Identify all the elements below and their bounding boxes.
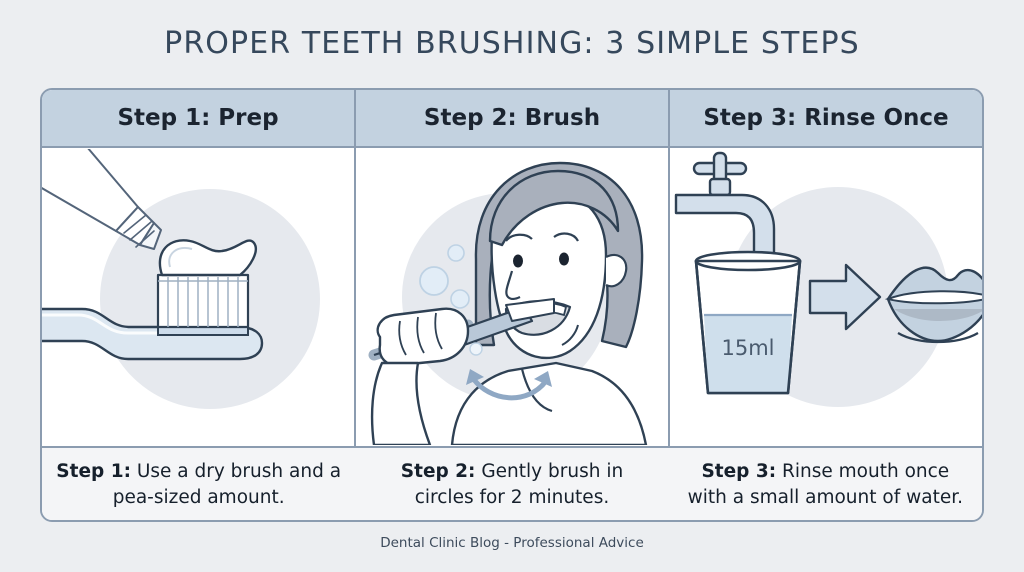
page-title: PROPER TEETH BRUSHING: 3 SIMPLE STEPS [0, 26, 1024, 61]
right-eye [559, 253, 569, 266]
step-1-caption-text: Use a dry brush and a pea-sized amount. [113, 461, 341, 508]
step-1-caption: Step 1: Use a dry brush and a pea-sized … [42, 448, 355, 522]
rinse-with-water-illustration: 15ml [670, 149, 982, 445]
infographic-page: PROPER TEETH BRUSHING: 3 SIMPLE STEPS St… [0, 0, 1024, 572]
step-3-caption-label: Step 3: [701, 461, 776, 482]
footer-credit: Dental Clinic Blog - Professional Advice [0, 535, 1024, 551]
step-3-illustration-cell: 15ml [668, 148, 982, 446]
step-2-caption: Step 2: Gently brush in circles for 2 mi… [355, 448, 668, 522]
step-1-illustration-cell [42, 148, 354, 446]
glass-volume-label: 15ml [721, 336, 774, 360]
step-1-caption-label: Step 1: [56, 461, 131, 482]
steps-card: Step 1: Prep Step 2: Brush Step 3: Rinse… [40, 88, 984, 522]
step-2-header: Step 2: Brush [354, 90, 668, 146]
steps-header-row: Step 1: Prep Step 2: Brush Step 3: Rinse… [42, 90, 982, 148]
step-2-illustration-cell [354, 148, 668, 446]
step-3-caption: Step 3: Rinse mouth once with a small am… [669, 448, 982, 522]
toothpaste-tube-icon [42, 149, 161, 249]
step-3-header: Step 3: Rinse Once [668, 90, 982, 146]
steps-illustration-row: 15ml [42, 148, 982, 448]
steps-caption-row: Step 1: Use a dry brush and a pea-sized … [42, 448, 982, 522]
faucet-icon [676, 153, 774, 261]
step-1-header: Step 1: Prep [42, 90, 354, 146]
toothpaste-on-brush-illustration [42, 149, 354, 445]
hand-shape [378, 309, 468, 366]
person-brushing-illustration [356, 149, 668, 445]
water-glass-icon: 15ml [696, 252, 800, 393]
left-eye [513, 255, 523, 268]
step-2-caption-label: Step 2: [401, 461, 476, 482]
forearm-shape [372, 363, 430, 445]
